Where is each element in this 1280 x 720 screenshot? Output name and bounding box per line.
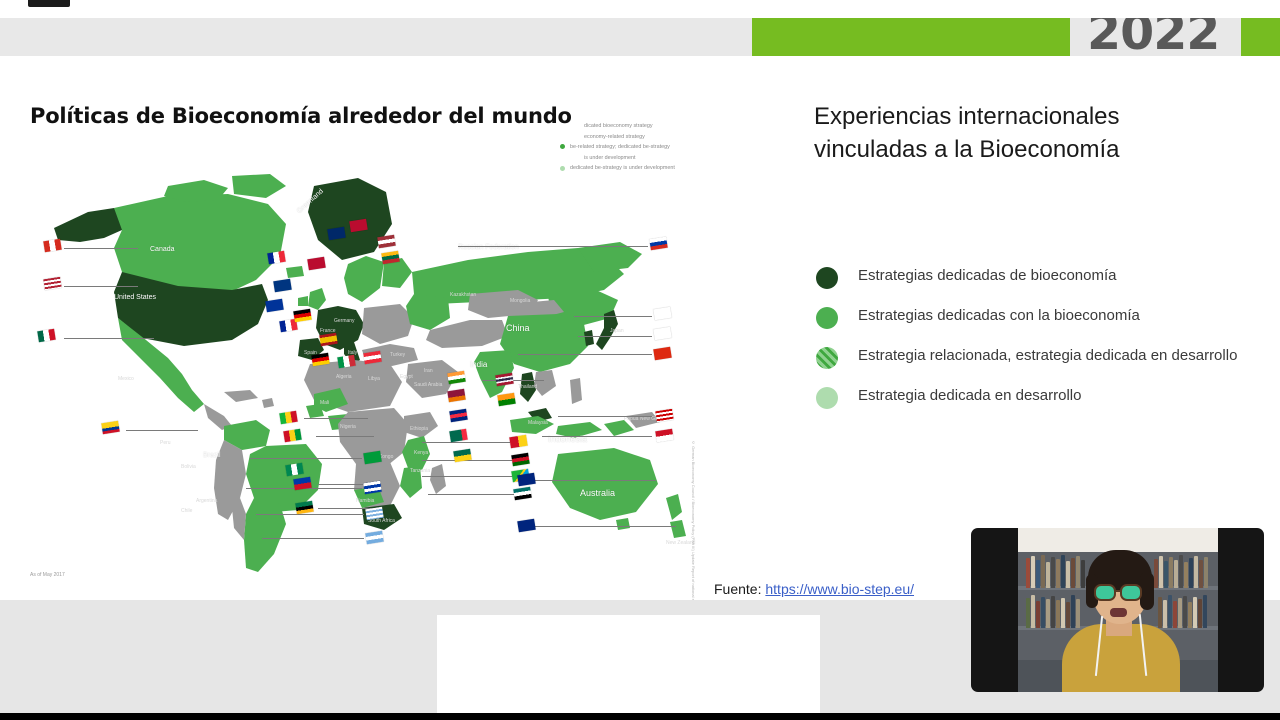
map-label: Mongolia [510,298,530,304]
map-legend-swatch-icon [560,144,565,149]
legend-swatch-dark-green-icon [816,267,838,289]
map-embedded-legend: dicated bioeconomy strategy economy-rela… [556,121,716,174]
presenter-mouth [1110,608,1127,617]
bottom-black-strip [0,713,1280,720]
legend-label: Estrategia relacionada, estrategia dedic… [858,346,1238,367]
map-label: Tanzania [410,468,430,474]
map-legend-text: be-related strategy; dedicated be-strate… [570,144,670,150]
legend-swatch-green-icon [816,307,838,329]
map-label: Egypt [400,374,413,380]
section-heading-line-2: vinculadas a la Bioeconomía [814,133,1234,166]
map-label: Japan [610,328,624,334]
section-heading-line-1: Experiencias internacionales [814,100,1234,133]
bioeconomy-legend: Estrategias dedicadas de bioeconomía Est… [816,266,1246,426]
map-label: Germany [334,318,355,324]
presenter-video-frame [1018,528,1218,692]
legend-label: Estrategia dedicada en desarrollo [858,386,1238,407]
bottom-white-panel [437,615,820,720]
map-label: Malaysia [528,420,548,426]
map-label: Argentina [196,498,217,504]
map-legend-text: is under development [584,155,636,161]
map-legend-item: be-related strategy; dedicated be-strate… [556,142,716,153]
map-label: Saudi Arabia [414,382,442,388]
map-label: China [506,323,530,333]
map-legend-text: economy-related strategy [584,134,645,140]
legend-item-dedicated-with-bioeconomy: Estrategias dedicadas con la bioeconomía [816,306,1246,330]
browser-tab-stub[interactable] [28,0,70,7]
map-label: Turkey [390,352,405,358]
section-heading: Experiencias internacionales vinculadas … [814,100,1234,166]
map-label: Chile [181,508,192,514]
map-label: Canada [150,246,175,253]
map-legend-item: dicated bioeconomy strategy [556,121,716,132]
map-label: Algeria [336,374,352,380]
map-label: Nigeria [340,424,356,430]
screen-root: 4 2022 Políticas de Bioeconomía alrededo… [0,0,1280,720]
map-credit-text: © German Bioeconomy Council / Bioeconomy… [690,440,696,600]
map-label: United States [114,294,156,301]
map-label: Kazakhstan [450,292,476,298]
map-label: Peru [160,440,171,446]
world-map-figure: Canada United States Greenland Mexico Br… [18,168,718,588]
legend-swatch-hatched-icon [816,347,838,369]
year-label: 2022 [1087,18,1219,61]
header-green-bar: 4 [752,18,1070,56]
map-as-of-note: As of May 2017 [30,572,65,578]
source-label: Fuente: [714,581,761,597]
header-green-accent-right [1241,18,1280,56]
top-chrome-strip [0,0,1280,18]
map-label: Bolivia [181,464,196,470]
source-link[interactable]: https://www.bio-step.eu/ [765,581,914,597]
presenter-hair-right [1140,572,1154,610]
map-label: Mali [320,400,329,406]
map-label: India [470,360,487,369]
map-legend-item: economy-related strategy [556,132,716,143]
map-label: Mexico [118,376,134,382]
legend-label: Estrategias dedicadas con la bioeconomía [858,306,1238,327]
map-label: Kenya [414,450,428,456]
map-label: Ethiopia [410,426,428,432]
legend-swatch-pale-green-icon [816,387,838,409]
map-legend-text: dicated bioeconomy strategy [584,123,653,129]
map-label: Australia [580,488,615,498]
presenter-video-tile[interactable] [971,528,1264,692]
map-label: Thailand [518,384,537,390]
glasses-left-lens-icon [1094,584,1116,601]
map-label: Namibia [356,498,374,504]
legend-item-dedicated-strategies: Estrategias dedicadas de bioeconomía [816,266,1246,290]
presentation-slide: 4 2022 Políticas de Bioeconomía alrededo… [0,18,1280,600]
legend-item-related-strategy: Estrategia relacionada, estrategia dedic… [816,346,1246,370]
glasses-bridge-icon [1115,590,1121,592]
legend-label: Estrategias dedicadas de bioeconomía [858,266,1238,287]
map-legend-item: is under development [556,153,716,164]
map-label: Libya [368,376,380,382]
page-title: Políticas de Bioeconomía alrededor del m… [30,104,572,128]
glasses-right-lens-icon [1120,584,1142,601]
legend-item-under-development: Estrategia dedicada en desarrollo [816,386,1246,410]
source-attribution: Fuente: https://www.bio-step.eu/ [714,581,914,597]
map-label: Iran [424,368,433,374]
map-label: Brazil [203,452,221,459]
